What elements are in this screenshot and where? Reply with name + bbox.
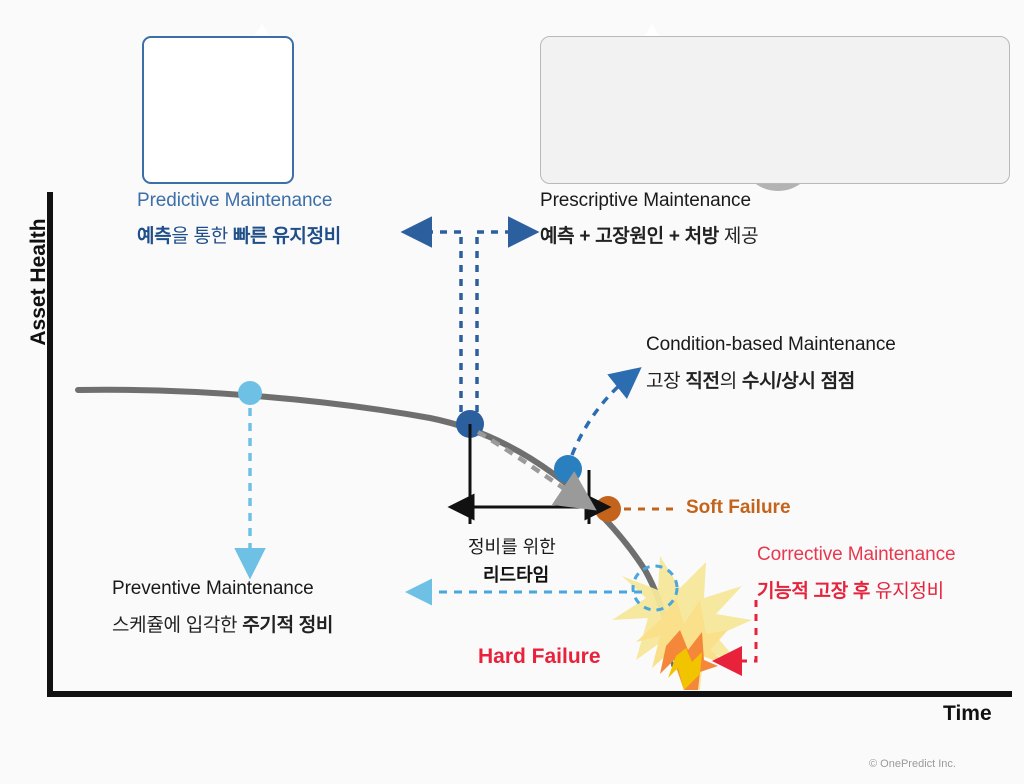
prescriptive-maintenance-box[interactable] [540, 36, 1010, 184]
copyright-footer: © OnePredict Inc. [869, 758, 956, 770]
preventive-point-marker[interactable] [238, 381, 262, 405]
soft-failure-point-marker[interactable] [595, 496, 621, 522]
pv-ko-rest-1: 스케쥴에 입각한 [112, 615, 242, 636]
lead-time-line1: 정비를 위한 [468, 533, 556, 559]
cb-ko-rest-1: 고장 [646, 371, 685, 392]
predictive-label-ko: 예측을 통한 빠른 유지정비 [137, 221, 341, 248]
preventive-label-en: Preventive Maintenance [112, 578, 314, 600]
prescriptive-label-ko: 예측 + 고장원인 + 처방 제공 [540, 221, 758, 248]
cm-ko-bold-1: 기능적 고장 후 [757, 581, 875, 602]
y-axis-label: Asset Health [27, 207, 51, 357]
predictive-ko-rest-1: 을 통한 [171, 226, 233, 247]
prescriptive-label-en: Prescriptive Maintenance [540, 190, 751, 212]
hard-failure-burst-icon [612, 556, 752, 690]
cb-ko-rest-2: 의 [720, 371, 742, 392]
predictive-ko-bold-2: 빠른 유지정비 [233, 226, 341, 247]
predictive-label-en: Predictive Maintenance [137, 190, 332, 212]
x-axis-label: Time [943, 702, 992, 726]
condition-based-connector-arrow [572, 378, 628, 455]
condition-based-label-en: Condition-based Maintenance [646, 334, 896, 356]
corrective-label-en: Corrective Maintenance [757, 544, 955, 566]
prescriptive-ko-bold-1: 예측 + 고장원인 + 처방 [540, 226, 719, 247]
hard-failure-label: Hard Failure [478, 645, 601, 669]
predictive-maintenance-box[interactable] [142, 36, 294, 184]
diagram-canvas: Asset Health Time © OnePredict Inc. Pred… [0, 0, 1024, 784]
cb-ko-bold-2: 수시/상시 점점 [742, 371, 855, 392]
corrective-connector-arrow [727, 600, 756, 661]
preventive-label-ko: 스케쥴에 입각한 주기적 정비 [112, 610, 333, 637]
pv-ko-bold-1: 주기적 정비 [242, 615, 333, 636]
predictive-prescriptive-connector [418, 232, 522, 412]
corrective-label-ko: 기능적 고장 후 유지정비 [757, 576, 944, 603]
condition-based-label-ko: 고장 직전의 수시/상시 점점 [646, 366, 855, 393]
cb-ko-bold-1: 직전 [685, 371, 719, 392]
cm-ko-rest-1: 유지정비 [875, 581, 944, 602]
lead-time-line2: 리드타임 [483, 561, 549, 587]
condition-based-point-marker[interactable] [554, 455, 582, 483]
prescriptive-ko-rest-1: 제공 [719, 226, 758, 247]
soft-failure-label: Soft Failure [686, 497, 791, 519]
predictive-ko-bold-1: 예측 [137, 226, 171, 247]
